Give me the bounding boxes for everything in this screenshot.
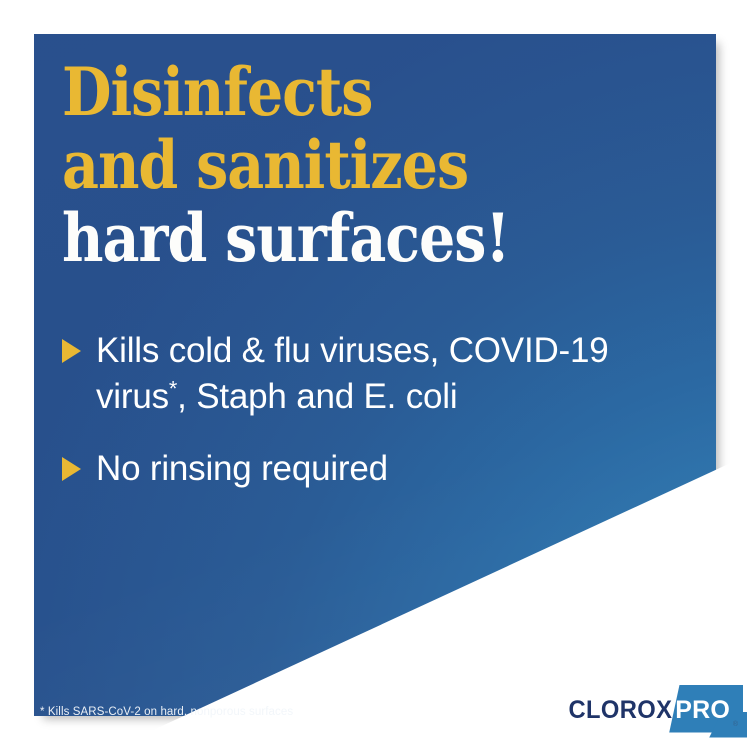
marketing-graphic: Disinfects and sanitizes hard surfaces! … — [0, 0, 750, 750]
logo-pro-wordmark: PRO — [673, 696, 736, 724]
cloroxpro-logo: CLOROX PRO ® — [563, 688, 736, 732]
headline-line-1: Disinfects — [62, 56, 581, 129]
triangle-right-icon — [62, 457, 81, 481]
footnote-text: * Kills SARS-CoV-2 on hard, nonporous su… — [40, 706, 293, 718]
bullet-item-no-rinsing-text: No rinsing required — [96, 446, 658, 492]
headline-block: Disinfects and sanitizes hard surfaces! — [62, 56, 662, 275]
bullet-item-kills-viruses: Kills cold & flu viruses, COVID-19 virus… — [48, 328, 658, 420]
panel-content: Disinfects and sanitizes hard surfaces! … — [0, 0, 750, 750]
logo-pro-block: PRO ® — [673, 696, 736, 725]
bullet-item-kills-viruses-text: Kills cold & flu viruses, COVID-19 virus… — [96, 328, 658, 420]
triangle-right-icon — [62, 339, 81, 363]
registered-trademark-icon: ® — [733, 721, 738, 728]
headline-line-2: and sanitizes — [62, 129, 581, 202]
bullet-item-no-rinsing: No rinsing required — [48, 446, 658, 492]
feature-bullet-list: Kills cold & flu viruses, COVID-19 virus… — [48, 328, 658, 518]
headline-line-3: hard surfaces! — [62, 202, 581, 275]
bullet-text-tail: , Staph and E. coli — [177, 377, 457, 416]
logo-clorox-wordmark: CLOROX — [568, 696, 672, 725]
footnote-asterisk-marker: * — [169, 375, 177, 400]
